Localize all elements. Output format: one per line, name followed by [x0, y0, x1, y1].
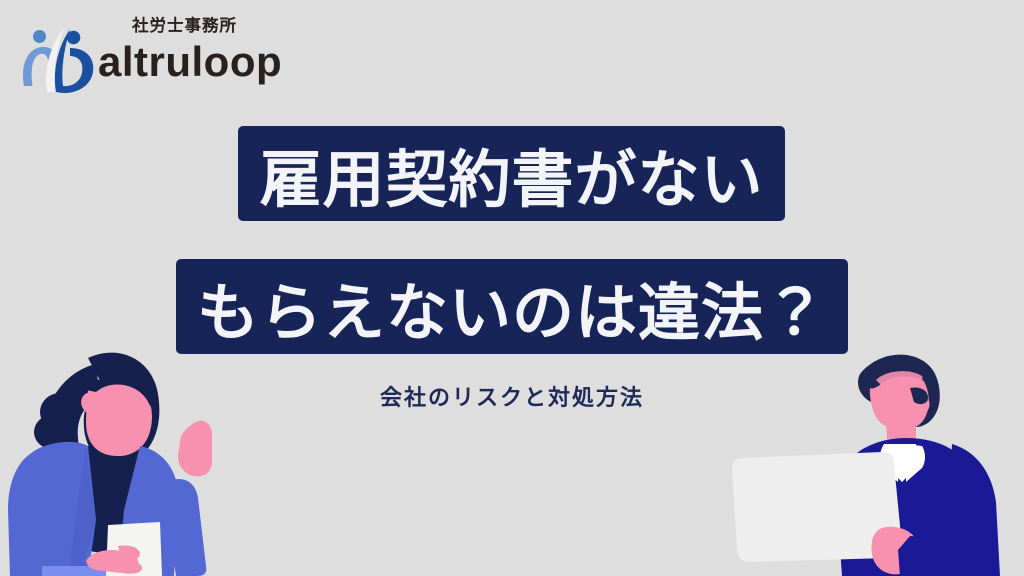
slide-canvas: 社労士事務所 altruloop 雇用契約書がない もらえないのは違法？ 会社の…	[0, 0, 1024, 576]
illustration-woman	[0, 350, 250, 576]
illustration-man	[724, 340, 1024, 576]
logo-text-group: 社労士事務所 altruloop	[98, 18, 288, 96]
logo-wordmark: altruloop	[98, 38, 282, 86]
logo-kicker: 社労士事務所	[132, 18, 237, 35]
headline-line-1: 雇用契約書がない	[238, 126, 785, 221]
altruloop-mark-icon	[14, 24, 100, 94]
brand-logo[interactable]: 社労士事務所 altruloop	[14, 18, 284, 96]
